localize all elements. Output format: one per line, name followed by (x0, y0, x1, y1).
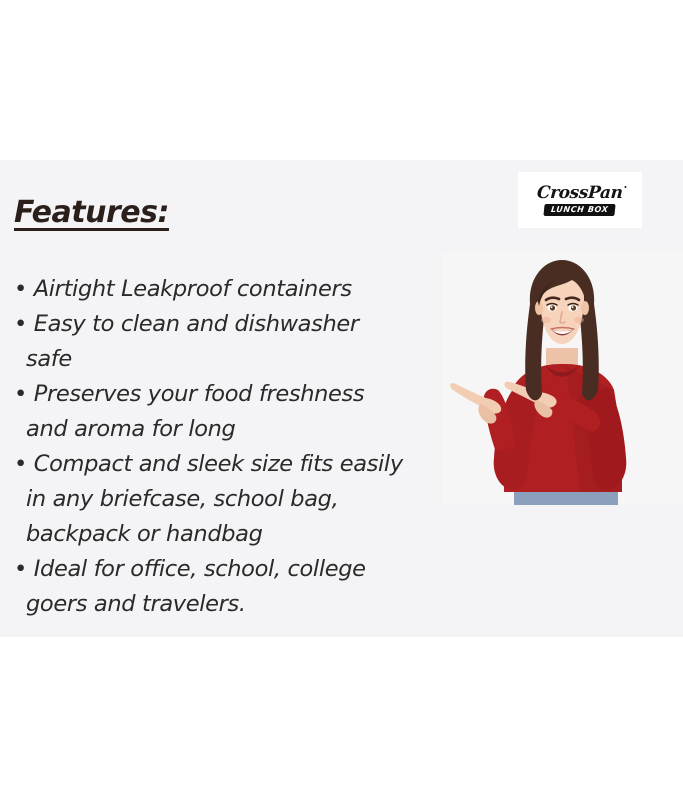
brand-name: CrossPan (537, 185, 624, 202)
list-item: Compact and sleek size fits easily in an… (14, 447, 450, 552)
product-feature-card: CrossPan LUNCH BOX Features: Airtight Le… (0, 0, 683, 800)
woman-pointing-illustration (442, 252, 683, 505)
feature-list: Airtight Leakproof containers Easy to cl… (14, 272, 450, 622)
list-item: Ideal for office, school, college goers … (14, 552, 450, 622)
list-item: Easy to clean and dishwasher safe (14, 307, 450, 377)
model-photo (442, 252, 683, 505)
brand-tagline-badge: LUNCH BOX (544, 204, 617, 216)
list-item: Preserves your food freshness and aroma … (14, 377, 450, 447)
brand-logo: CrossPan LUNCH BOX (518, 172, 642, 228)
page-title: Features: (14, 195, 169, 230)
list-item: Airtight Leakproof containers (14, 272, 450, 307)
